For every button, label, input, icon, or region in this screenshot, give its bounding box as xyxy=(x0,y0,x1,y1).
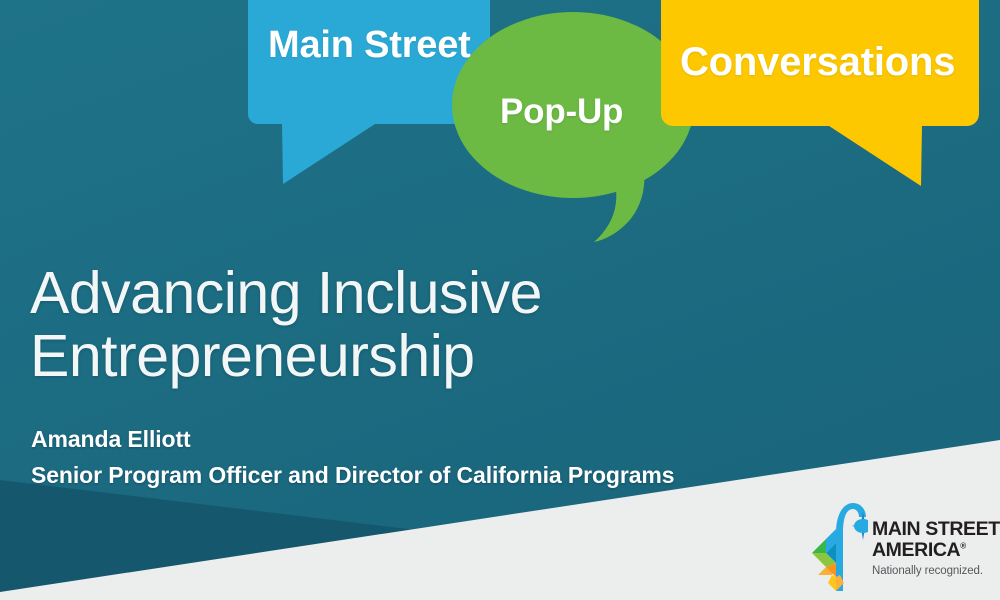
registered-trademark-icon: ® xyxy=(960,541,966,550)
speech-bubble-label-pop-up: Pop-Up xyxy=(500,92,623,132)
presentation-slide: Main Street Pop-Up Conversations Advanci… xyxy=(0,0,1000,600)
speech-bubble-label-main-street: Main Street xyxy=(268,24,471,67)
logo-wordmark-america: AMERICA xyxy=(872,539,960,561)
logo-tagline: Nationally recognized. xyxy=(872,565,1000,577)
slide-title-line-1: Advancing Inclusive xyxy=(30,262,650,325)
slide-title-line-2: Entrepreneurship xyxy=(30,325,650,388)
presenter-role: Senior Program Officer and Director of C… xyxy=(31,462,674,489)
logo-wordmark-line-2: AMERICA® xyxy=(872,540,1000,561)
speech-bubble-label-conversations: Conversations xyxy=(680,40,955,85)
main-street-america-logo: MAIN STREET AMERICA® Nationally recogniz… xyxy=(806,495,996,595)
presenter-name: Amanda Elliott xyxy=(31,426,191,453)
logo-text-block: MAIN STREET AMERICA® Nationally recogniz… xyxy=(872,495,1000,577)
lamppost-leaves-icon xyxy=(806,495,868,593)
logo-wordmark-line-1: MAIN STREET xyxy=(872,519,1000,540)
slide-title: Advancing Inclusive Entrepreneurship xyxy=(30,262,650,387)
